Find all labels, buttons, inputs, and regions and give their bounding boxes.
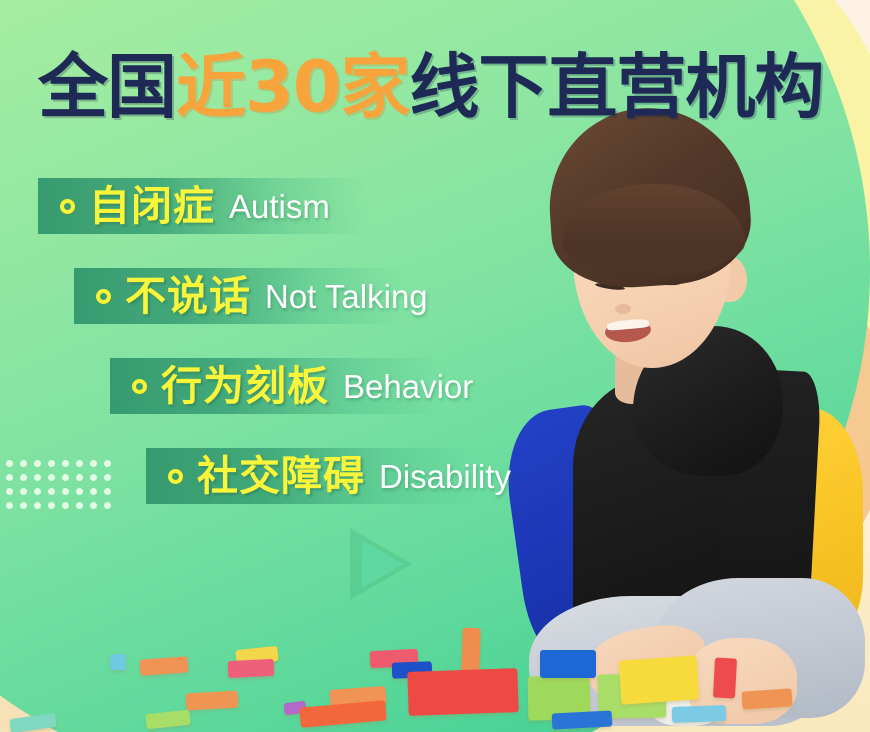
feature-item-disability[interactable]: 社交障碍 Disability xyxy=(146,448,620,504)
circle-bullet-icon xyxy=(96,289,111,304)
circle-bullet-icon xyxy=(132,379,147,394)
title-segment-1: 全国 xyxy=(38,46,176,128)
block-yellow-hand xyxy=(619,655,700,704)
block-teal-left xyxy=(9,713,57,732)
feature-label-cn: 社交障碍 xyxy=(197,456,365,497)
feature-label-en: Autism xyxy=(229,190,330,223)
block-red-right xyxy=(713,657,737,698)
block-pink xyxy=(228,659,275,678)
feature-label-en: Disability xyxy=(379,460,511,493)
block-orange-right xyxy=(741,688,792,709)
circle-bullet-icon xyxy=(60,199,75,214)
block-orange xyxy=(140,656,189,675)
feature-label-en: Not Talking xyxy=(265,280,428,313)
feature-label-cn: 行为刻板 xyxy=(161,366,329,407)
feature-item-autism[interactable]: 自闭症 Autism xyxy=(38,178,620,234)
poster-root: 全国近30家线下直营机构 自闭症 Autism 不说话 Not Talking … xyxy=(0,0,870,732)
feature-item-not-talking[interactable]: 不说话 Not Talking xyxy=(74,268,620,324)
title-segment-2: 近30家 xyxy=(176,46,409,128)
block-orange-long xyxy=(299,700,386,727)
block-red-big xyxy=(407,668,518,716)
feature-label-cn: 不说话 xyxy=(125,276,251,317)
circle-bullet-icon xyxy=(168,469,183,484)
page-title: 全国近30家线下直营机构 xyxy=(38,52,798,122)
feature-label-en: Behavior xyxy=(343,370,473,403)
block-orange-tall xyxy=(461,628,481,673)
block-cyan-low xyxy=(672,705,727,723)
feature-list: 自闭症 Autism 不说话 Not Talking 行为刻板 Behavior… xyxy=(0,178,620,538)
block-cyan xyxy=(110,654,126,670)
feature-label-cn: 自闭症 xyxy=(89,186,215,227)
feature-item-behavior[interactable]: 行为刻板 Behavior xyxy=(110,358,620,414)
block-orange-mid xyxy=(186,691,239,711)
block-green-small xyxy=(145,710,190,730)
block-blue-tri xyxy=(540,650,596,678)
title-segment-3: 线下直营机构 xyxy=(409,46,823,128)
block-blue-low xyxy=(552,710,613,729)
